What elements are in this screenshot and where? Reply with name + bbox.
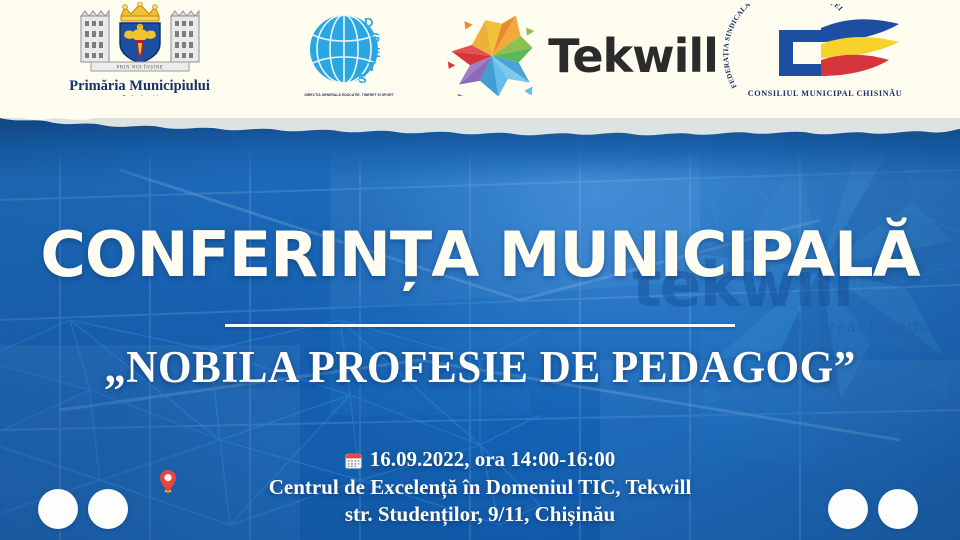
tekwill-wordmark: Tekwill xyxy=(548,29,718,83)
svg-text:E: E xyxy=(372,45,381,60)
svg-text:D: D xyxy=(364,15,373,30)
map-pin-icon xyxy=(160,470,176,493)
logo-primaria-chisinau: PRIN NOI ÎNȘINE Primăria Municipiului Ch… xyxy=(28,2,251,110)
page-title: CONFERINȚA MUNICIPALĂ xyxy=(0,224,960,286)
primaria-caption-line1: Primăria Municipiului xyxy=(69,78,210,94)
torn-paper-edge xyxy=(0,96,960,138)
logo-tekwill: Tekwill xyxy=(447,10,717,102)
svg-text:G: G xyxy=(370,30,380,45)
svg-text:T: T xyxy=(368,59,376,74)
event-date-text: 16.09.2022, ora 14:00-16:00 xyxy=(370,446,616,474)
decor-dot-2 xyxy=(88,489,128,529)
event-details: 16.09.2022, ora 14:00-16:00 Centrul de E… xyxy=(0,446,960,529)
fsees-book-flag-icon: FEDERAȚIA SINDICALĂ A EDUCAȚIEI ȘI ȘTIIN… xyxy=(717,4,932,108)
svg-text:S: S xyxy=(358,71,367,86)
header-logo-band: PRIN NOI ÎNȘINE Primăria Municipiului Ch… xyxy=(0,0,960,118)
event-address-line: str. Studenților, 9/11, Chișinău xyxy=(0,501,960,529)
logo-fsees: FEDERAȚIA SINDICALĂ A EDUCAȚIEI ȘI ȘTIIN… xyxy=(717,4,932,108)
decor-dot-3 xyxy=(828,489,868,529)
svg-text:PRIN NOI ÎNȘINE: PRIN NOI ÎNȘINE xyxy=(116,64,163,70)
tekwill-star-icon xyxy=(446,10,538,102)
event-poster: tekwill Be great together xyxy=(0,0,960,540)
event-venue-text: Centrul de Excelență în Domeniul TIC, Te… xyxy=(269,474,692,502)
title-divider xyxy=(225,324,735,327)
decor-dot-1 xyxy=(38,489,78,529)
logo-dgets: D G E T S DIRECȚIA GENERALĂ EDUCAȚIE, TI… xyxy=(251,11,447,102)
dgets-globe-icon: D G E T S xyxy=(306,11,392,91)
calendar-icon xyxy=(345,452,362,469)
page-subtitle: „NOBILA PROFESIE DE PEDAGOG” xyxy=(19,345,941,390)
decor-dot-4 xyxy=(878,489,918,529)
event-venue-line: Centrul de Excelență în Domeniul TIC, Te… xyxy=(0,474,960,502)
event-date-line: 16.09.2022, ora 14:00-16:00 xyxy=(0,446,960,474)
event-address-text: str. Studenților, 9/11, Chișinău xyxy=(345,501,615,529)
chisinau-coat-of-arms-icon: PRIN NOI ÎNȘINE xyxy=(75,2,205,76)
